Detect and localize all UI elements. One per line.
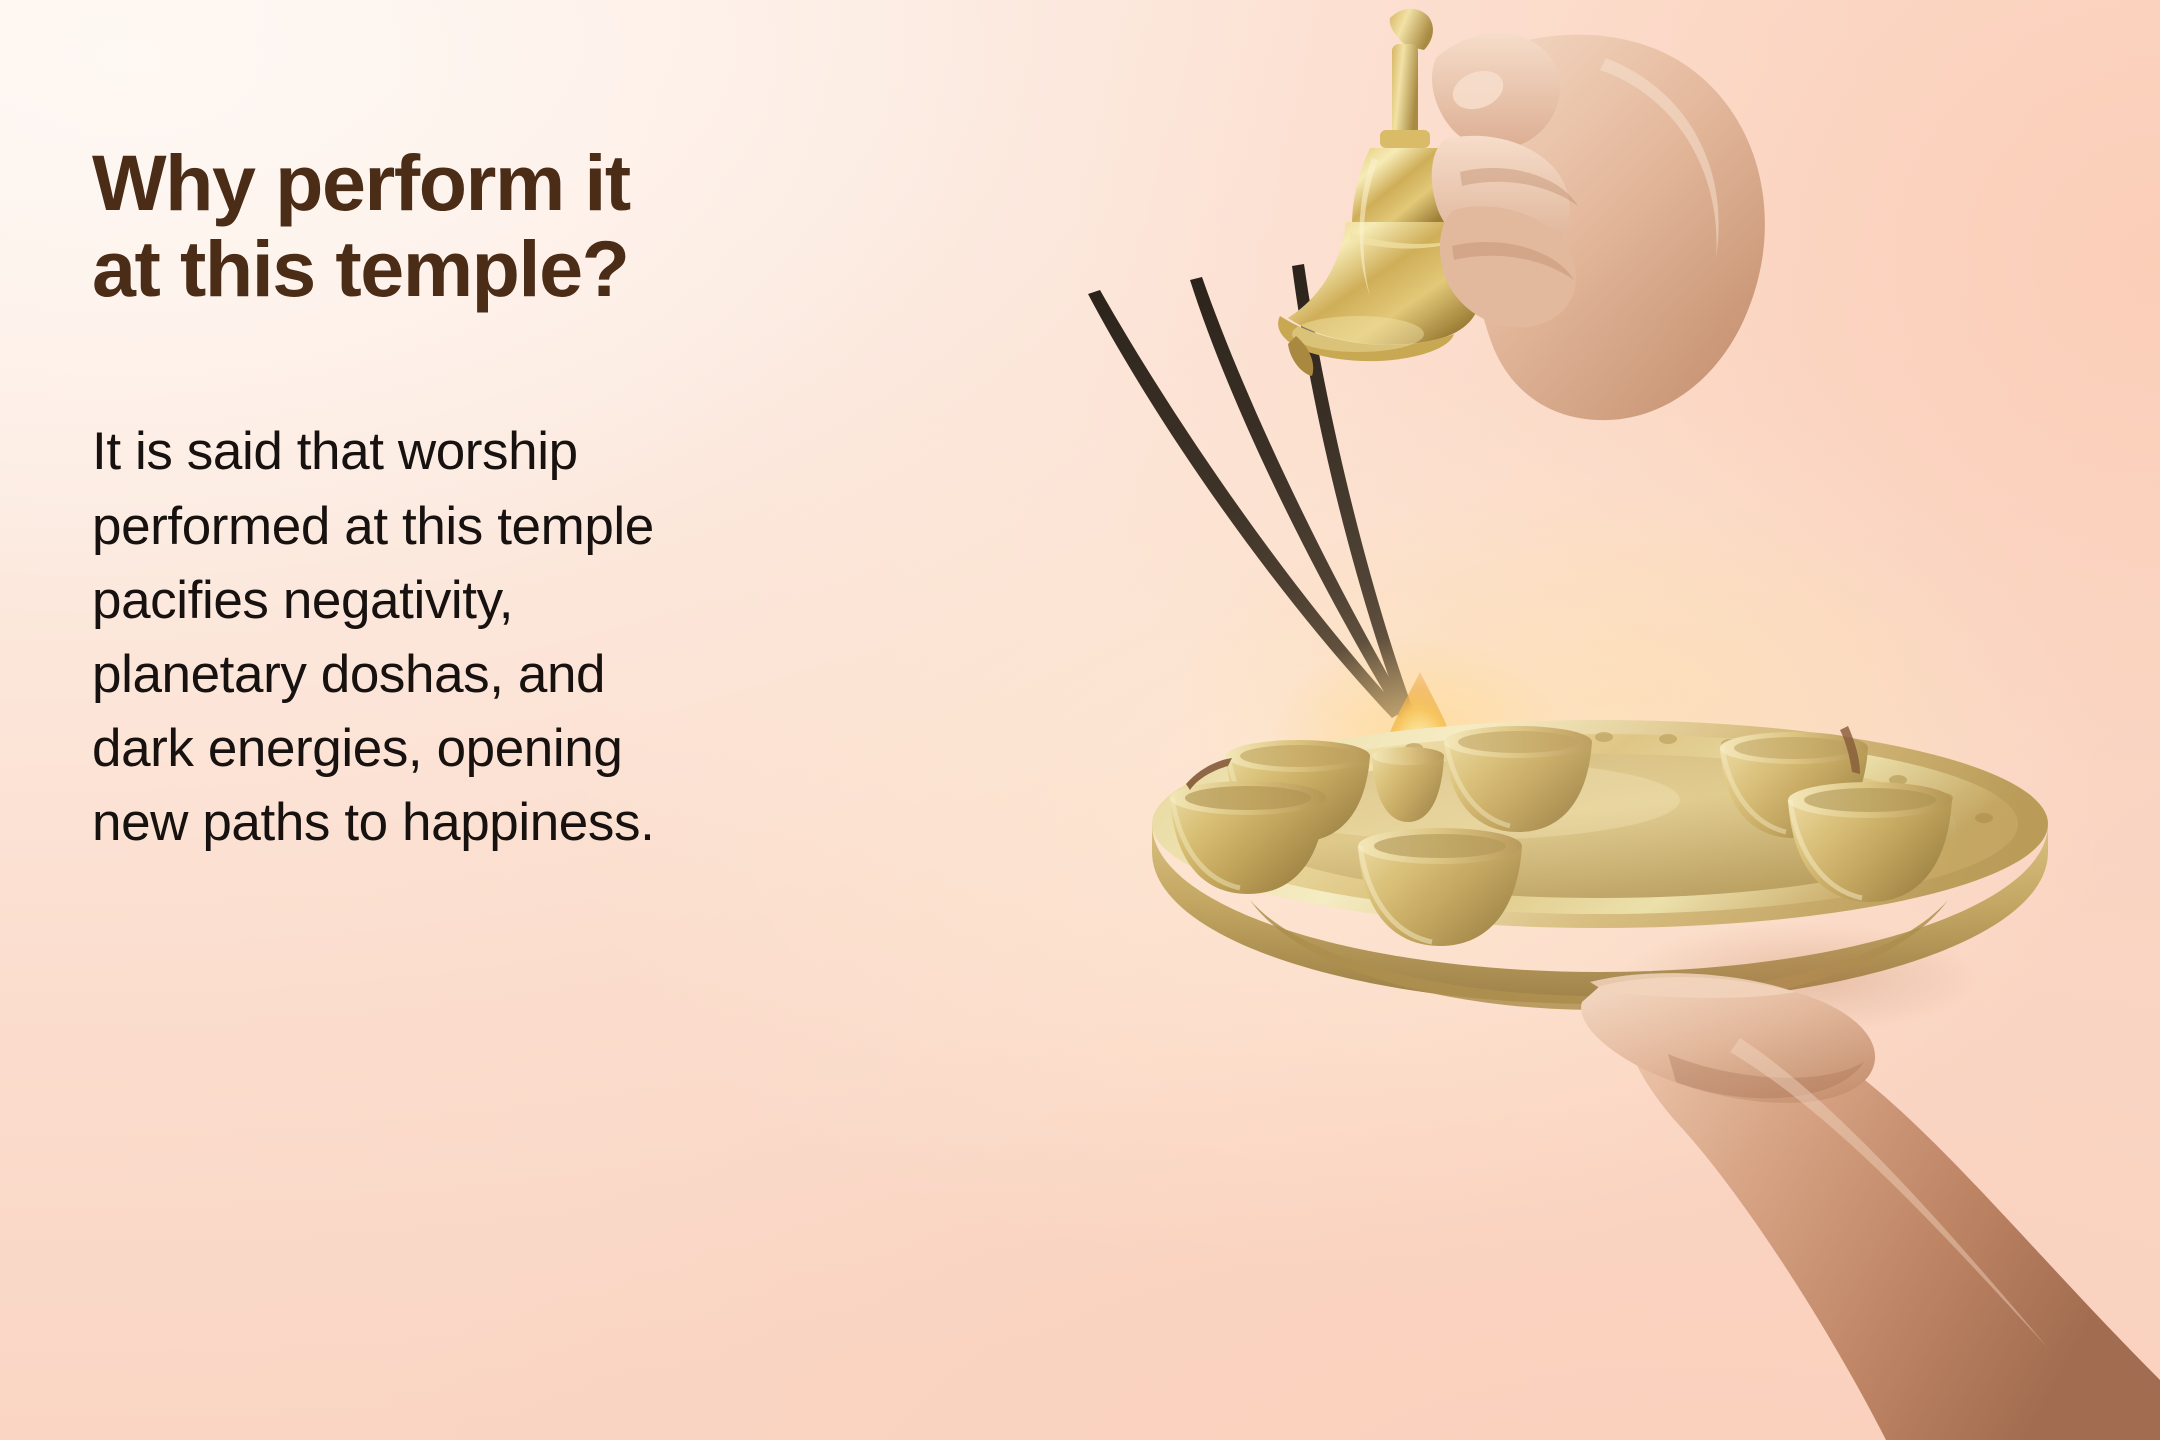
brass-diya-bowl — [1358, 828, 1522, 946]
puja-photo — [1040, 0, 2160, 1440]
body-paragraph: It is said that worship performed at thi… — [92, 415, 1052, 860]
page-title: Why perform it at this temple? — [92, 140, 1052, 311]
bell-handle-shaft — [1392, 44, 1418, 140]
bell-rim-highlight — [1292, 316, 1424, 352]
puja-illustration — [1040, 0, 2160, 1440]
hand-holding-thali — [1581, 922, 2160, 1440]
slide-canvas: Why perform it at this temple? It is sai… — [0, 0, 2160, 1440]
text-column: Why perform it at this temple? It is sai… — [92, 140, 1052, 861]
bell-handle-top — [1390, 9, 1433, 50]
bell-handle-collar — [1380, 130, 1430, 148]
